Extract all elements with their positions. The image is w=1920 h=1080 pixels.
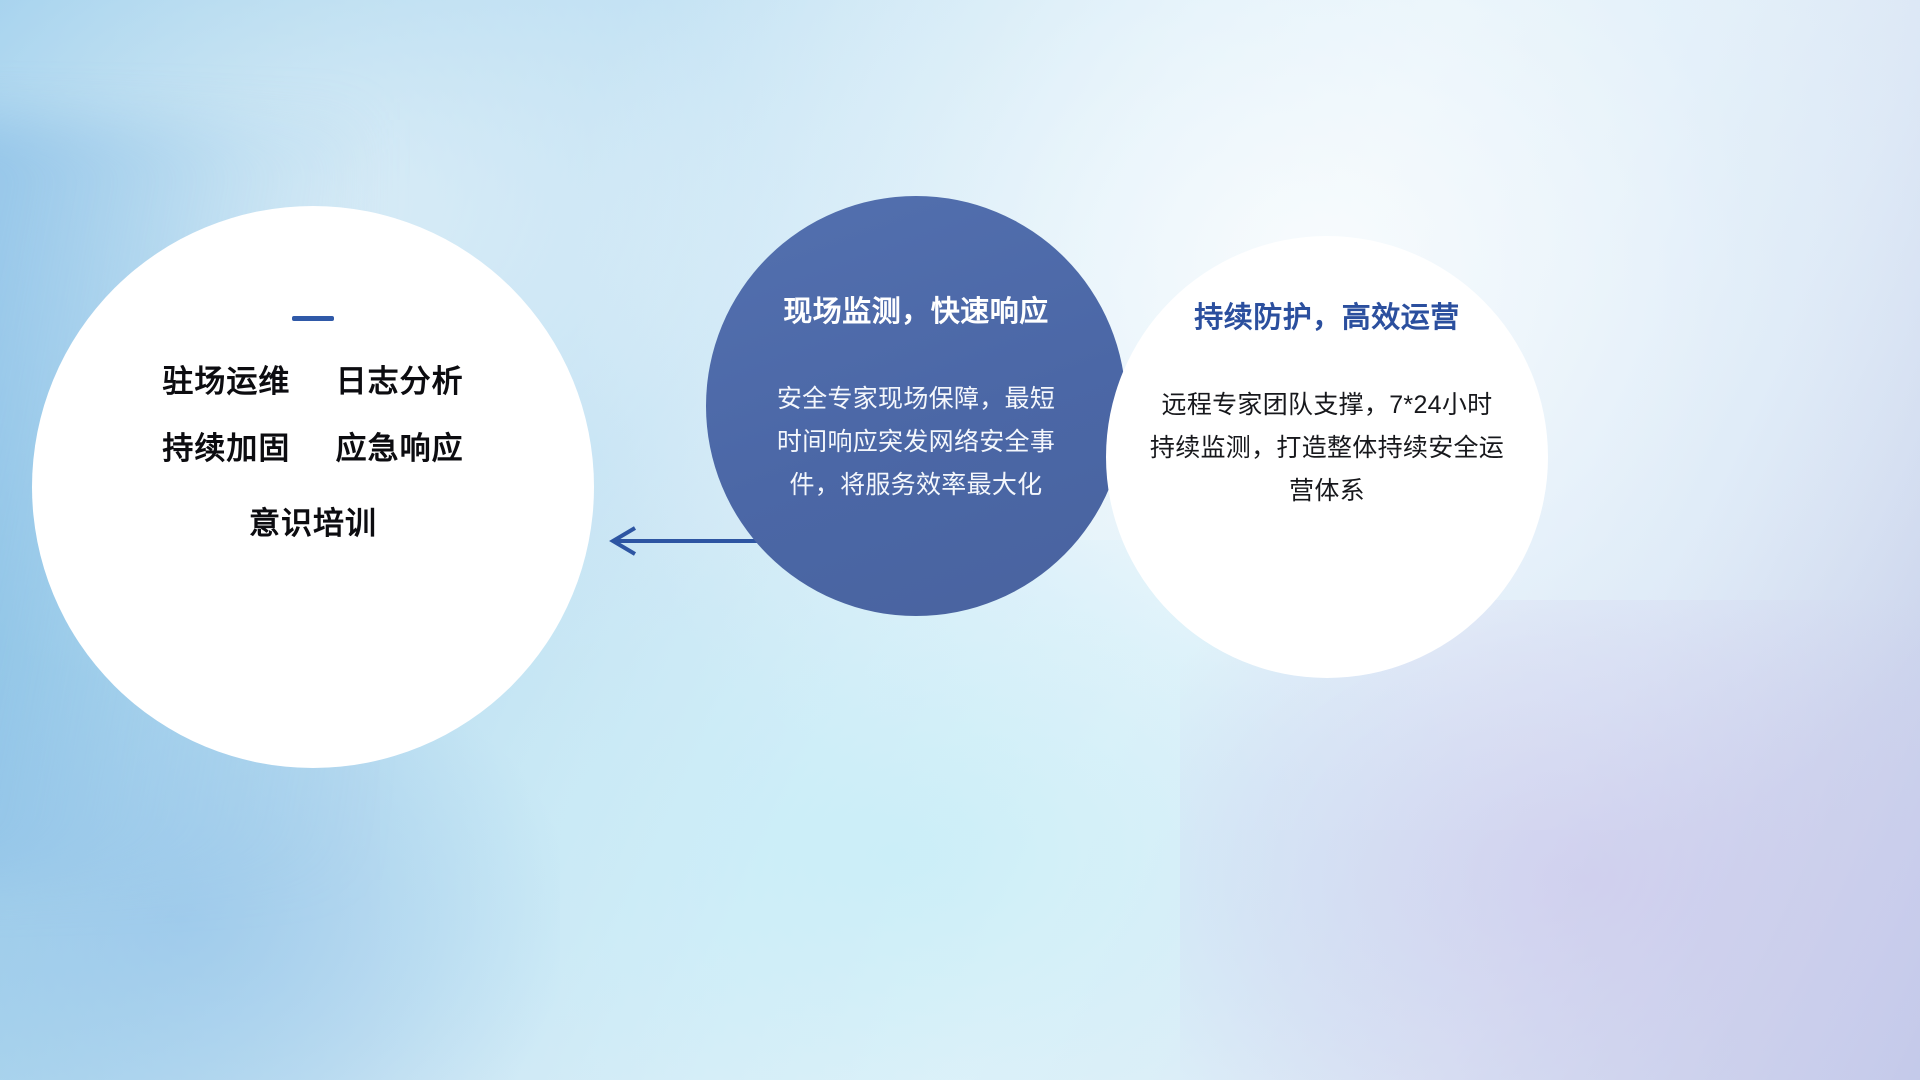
continuous-protection-title: 持续防护，高效运营 — [1194, 294, 1460, 336]
dash-accent-icon — [292, 316, 334, 321]
onsite-monitoring-circle[interactable]: 现场监测，快速响应 安全专家现场保障，最短时间响应突发网络安全事件，将服务效率最… — [706, 196, 1126, 616]
capability-row-1: 驻场运维 日志分析 — [162, 363, 463, 400]
onsite-monitoring-body: 安全专家现场保障，最短时间响应突发网络安全事件，将服务效率最大化 — [766, 378, 1066, 507]
slide-canvas: 驻场运维 日志分析 持续加固 应急响应 意识培训 现场监测，快速响应 安全专家现… — [0, 0, 1920, 1080]
capability-label: 日志分析 — [336, 364, 464, 399]
continuous-protection-circle[interactable]: 持续防护，高效运营 远程专家团队支撑，7*24小时持续监测，打造整体持续安全运营… — [1106, 236, 1548, 678]
left-capability-circle[interactable]: 驻场运维 日志分析 持续加固 应急响应 意识培训 — [32, 206, 594, 768]
onsite-monitoring-title: 现场监测，快速响应 — [783, 288, 1049, 330]
continuous-protection-body: 远程专家团队支撑，7*24小时持续监测，打造整体持续安全运营体系 — [1149, 384, 1505, 513]
capability-label: 持续加固 — [162, 431, 290, 466]
capability-row-3: 意识培训 — [249, 505, 377, 542]
capability-label: 应急响应 — [336, 431, 464, 466]
capability-row-2: 持续加固 应急响应 — [162, 430, 463, 467]
capability-label: 驻场运维 — [162, 364, 290, 399]
